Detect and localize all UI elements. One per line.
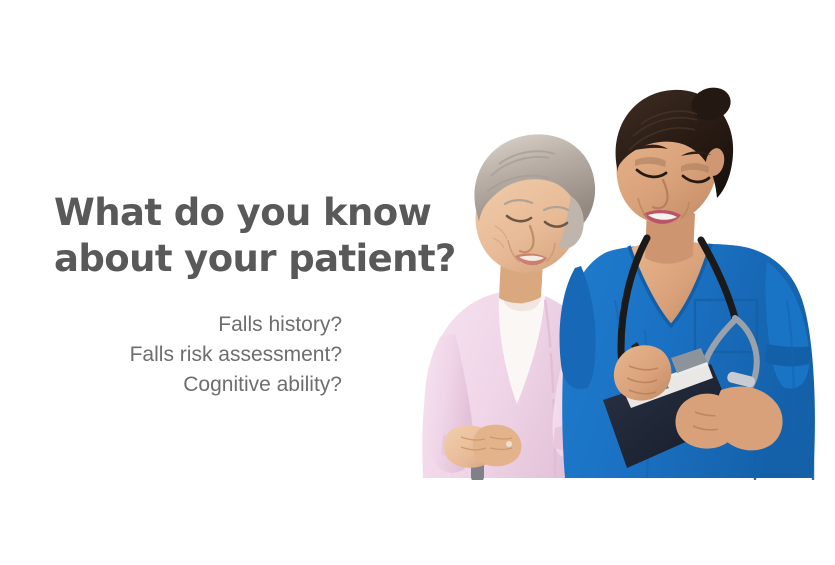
question-falls-risk-assessment: Falls risk assessment? (40, 340, 342, 370)
figure-nurse (560, 83, 815, 482)
nurse-sleeve-hem (765, 344, 811, 366)
photo-nurse-and-patient (395, 0, 835, 565)
headline-line-1: What do you know (54, 190, 444, 236)
patient-button (549, 347, 555, 353)
slide-canvas: What do you know about your patient? Fal… (0, 0, 835, 565)
question-list: Falls history? Falls risk assessment? Co… (40, 310, 342, 400)
text-block: What do you know about your patient? Fal… (0, 0, 440, 565)
patient-ring (506, 441, 512, 447)
page-title: What do you know about your patient? (54, 190, 444, 282)
headline-line-2: about your patient? (54, 236, 444, 282)
question-cognitive-ability: Cognitive ability? (40, 370, 342, 400)
photo-illustration (395, 0, 835, 565)
question-falls-history: Falls history? (40, 310, 342, 340)
